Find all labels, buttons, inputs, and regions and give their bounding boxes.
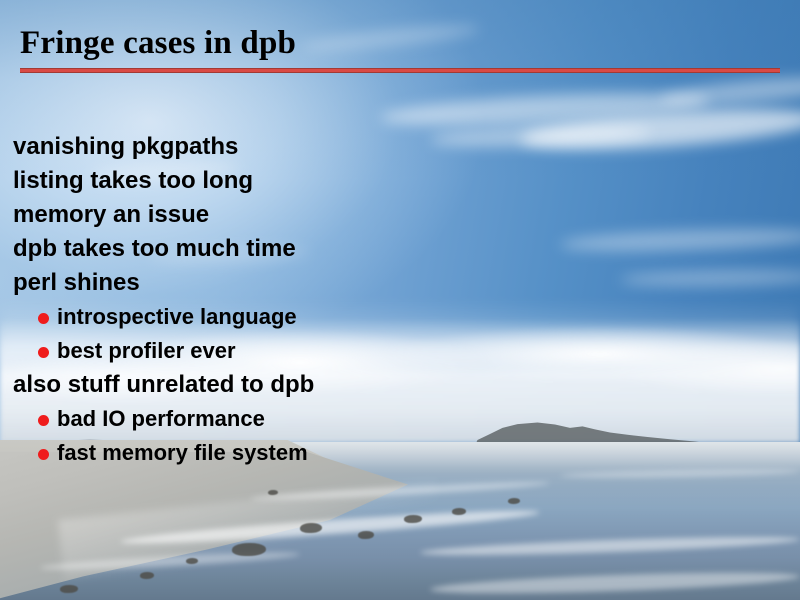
bullet-item: dpb takes too much time (0, 232, 800, 266)
title-underline-rule (20, 68, 780, 73)
bullet-item-label: introspective language (57, 304, 297, 329)
bullet-item-label: perl shines (13, 269, 140, 296)
bullet-item-label: memory an issue (13, 201, 209, 228)
bullet-item: memory an issue (0, 198, 800, 232)
bullet-item-label: best profiler ever (57, 338, 236, 363)
bullet-item: perl shines (0, 266, 800, 300)
bullet-item-label: fast memory file system (57, 440, 308, 465)
bullet-item-label: dpb takes too much time (13, 235, 296, 262)
beach-pebble (508, 498, 520, 504)
bullet-item: listing takes too long (0, 164, 800, 198)
beach-pebble (404, 515, 422, 523)
slide-title: Fringe cases in dpb (20, 24, 296, 62)
beach-pebble (268, 490, 278, 495)
bullet-dot-icon (38, 347, 49, 358)
beach-pebble (358, 531, 374, 539)
bullet-item-label: listing takes too long (13, 167, 253, 194)
bullet-dot-icon (38, 415, 49, 426)
bullet-item-label: vanishing pkgpaths (13, 133, 238, 160)
bullet-item: also stuff unrelated to dpb (0, 368, 800, 402)
slide-body-list: vanishing pkgpathslisting takes too long… (0, 130, 800, 470)
beach-pebble (300, 523, 322, 533)
sub-bullet-item: introspective language (0, 300, 800, 334)
sub-bullet-item: bad IO performance (0, 402, 800, 436)
bullet-item-label: bad IO performance (57, 406, 265, 431)
bullet-item: vanishing pkgpaths (0, 130, 800, 164)
beach-pebble (60, 585, 78, 593)
beach-pebble (186, 558, 198, 564)
beach-pebble (232, 543, 266, 556)
presentation-slide: Fringe cases in dpb vanishing pkgpathsli… (0, 0, 800, 600)
bullet-item-label: also stuff unrelated to dpb (13, 371, 314, 398)
bullet-dot-icon (38, 449, 49, 460)
beach-pebble (140, 572, 154, 579)
bullet-dot-icon (38, 313, 49, 324)
beach-pebble (452, 508, 466, 515)
sub-bullet-item: best profiler ever (0, 334, 800, 368)
sub-bullet-item: fast memory file system (0, 436, 800, 470)
